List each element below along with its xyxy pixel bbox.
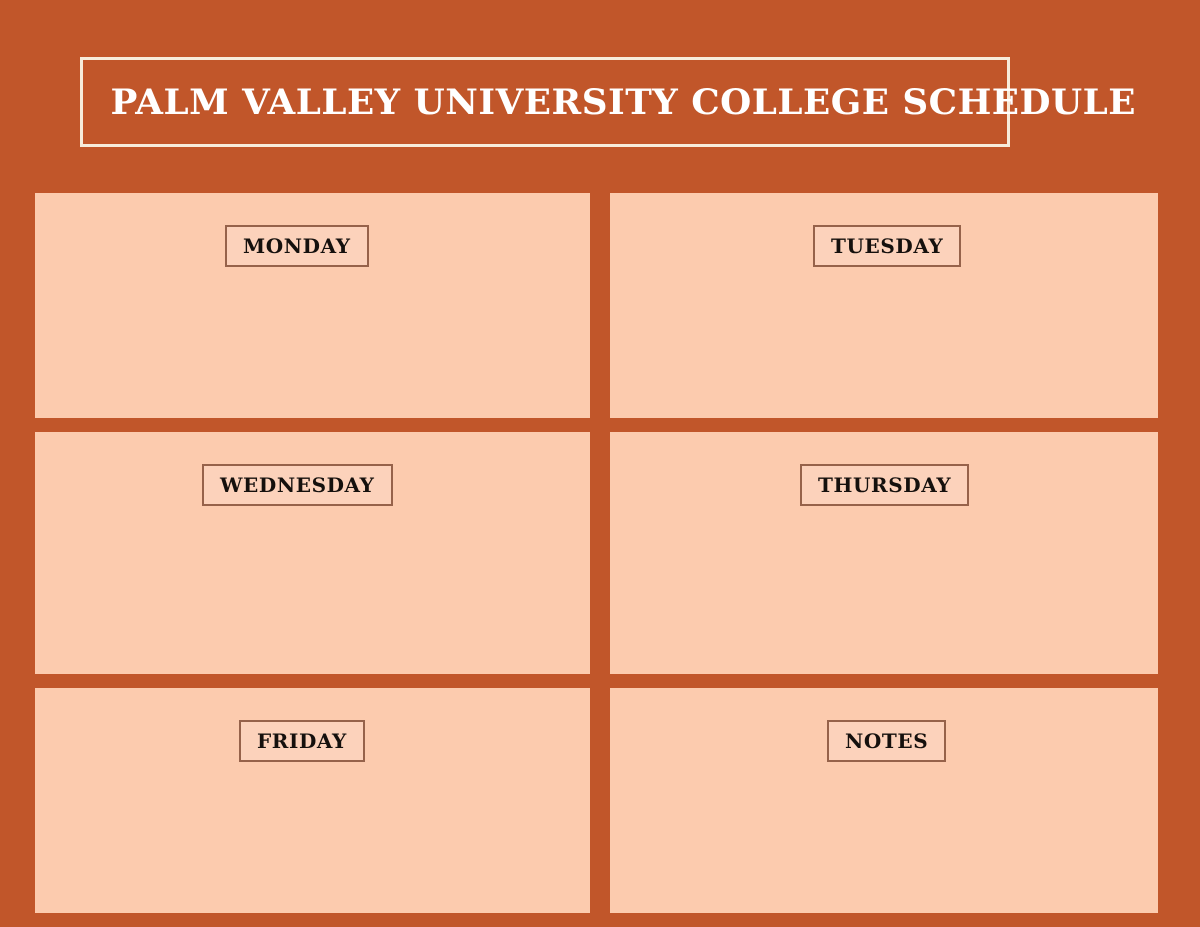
day-label-friday: FRIDAY (257, 731, 347, 751)
day-content-wednesday[interactable] (35, 518, 590, 674)
title-frame: PALM VALLEY UNIVERSITY COLLEGE SCHEDULE (80, 57, 1010, 147)
day-label-tuesday: TUESDAY (831, 236, 943, 256)
day-label-wednesday: WEDNESDAY (220, 475, 375, 495)
day-content-monday[interactable] (35, 279, 590, 418)
day-card-friday[interactable]: FRIDAY (35, 688, 590, 913)
day-label-box-friday: FRIDAY (239, 720, 365, 762)
day-label-thursday: THURSDAY (818, 475, 951, 495)
day-card-monday[interactable]: MONDAY (35, 193, 590, 418)
notes-card[interactable]: NOTES (610, 688, 1158, 913)
schedule-poster: PALM VALLEY UNIVERSITY COLLEGE SCHEDULE … (0, 0, 1200, 927)
day-label-box-tuesday: TUESDAY (813, 225, 961, 267)
notes-content[interactable] (610, 774, 1158, 913)
day-content-tuesday[interactable] (610, 279, 1158, 418)
day-content-thursday[interactable] (610, 518, 1158, 674)
notes-label-box: NOTES (827, 720, 946, 762)
day-card-thursday[interactable]: THURSDAY (610, 432, 1158, 674)
day-label-box-thursday: THURSDAY (800, 464, 969, 506)
day-label-box-wednesday: WEDNESDAY (202, 464, 393, 506)
day-card-tuesday[interactable]: TUESDAY (610, 193, 1158, 418)
day-content-friday[interactable] (35, 774, 590, 913)
schedule-grid: MONDAY TUESDAY WEDNESDAY THURSDAY FRIDAY (35, 193, 1158, 906)
day-label-box-monday: MONDAY (225, 225, 369, 267)
day-card-wednesday[interactable]: WEDNESDAY (35, 432, 590, 674)
notes-label: NOTES (845, 731, 928, 751)
page-title: PALM VALLEY UNIVERSITY COLLEGE SCHEDULE (83, 85, 1136, 120)
day-label-monday: MONDAY (243, 236, 351, 256)
